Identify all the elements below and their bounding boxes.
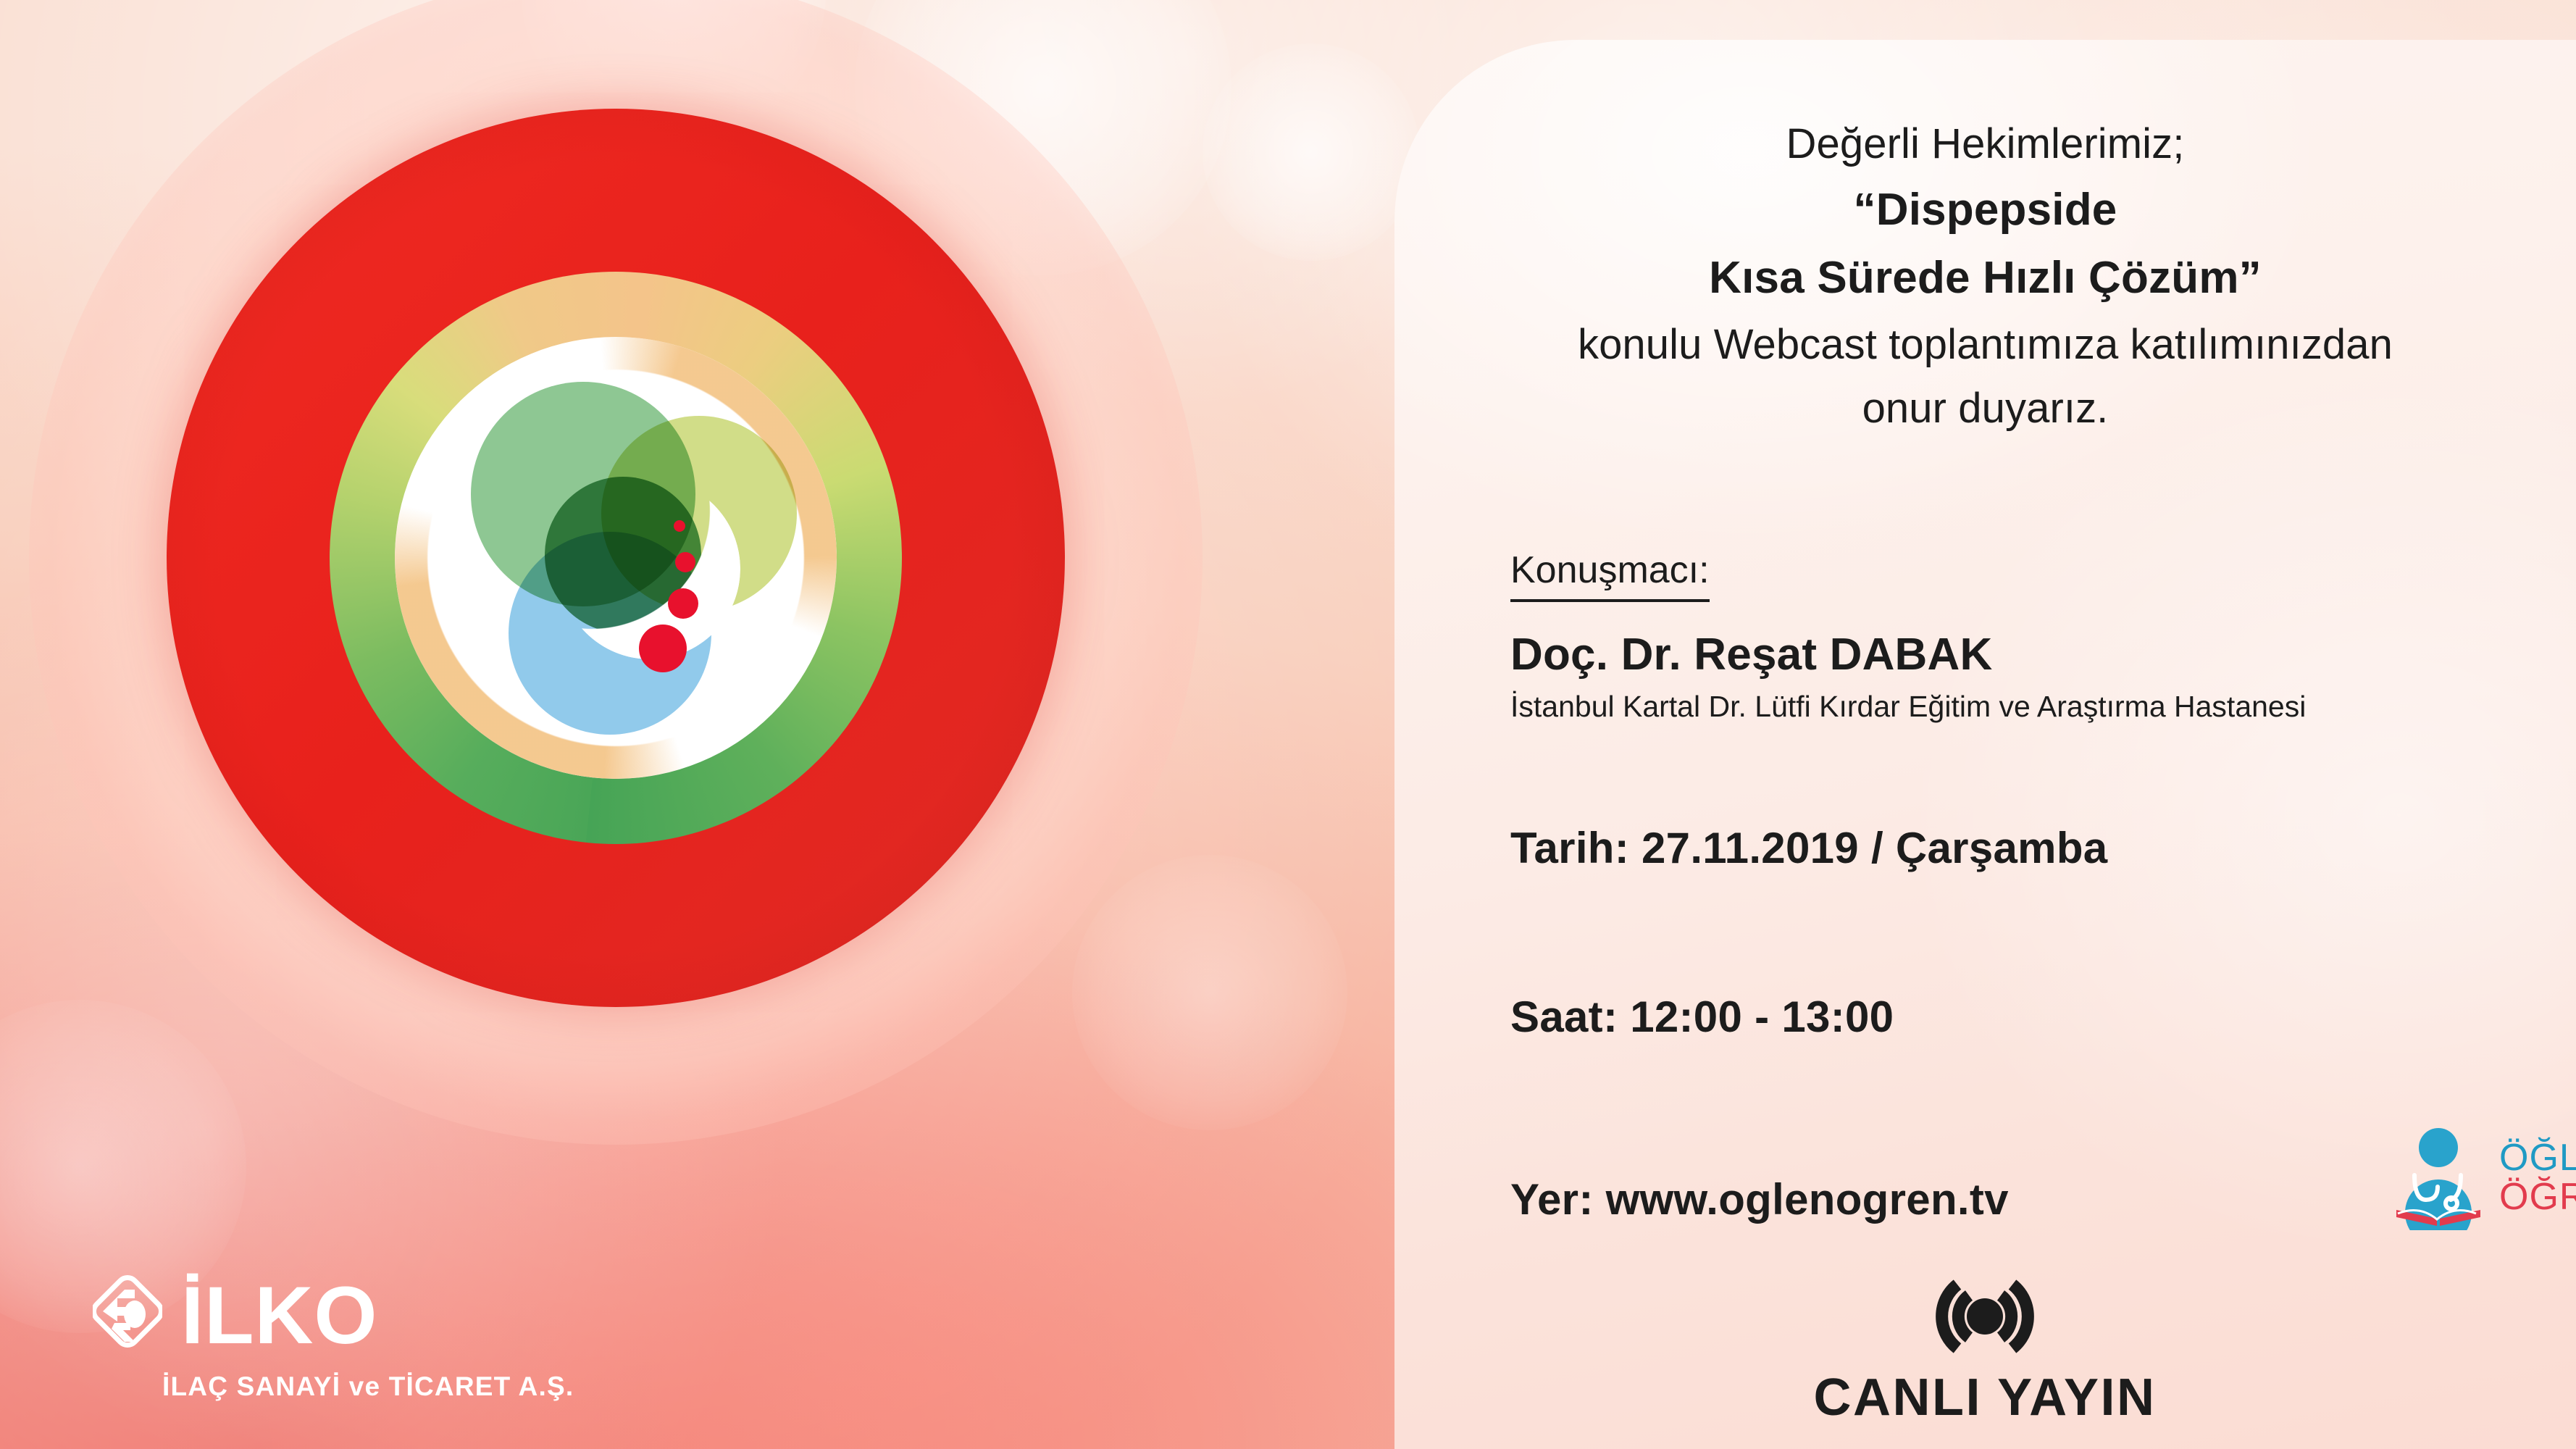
speaker-block: Konuşmacı: Doç. Dr. Reşat DABAK İstanbul…: [1510, 547, 2510, 724]
webcast-title-line1: “Dispepside: [1394, 176, 2576, 244]
ilko-wordmark: İLKO: [181, 1275, 378, 1356]
event-date: Tarih: 27.11.2019 / Çarşamba: [1510, 824, 2510, 872]
intro-body-line2: onur duyarız.: [1394, 377, 2576, 440]
doctor-reading-book-icon: [2391, 1122, 2486, 1234]
ilko-diamond-emblem-icon: [93, 1269, 162, 1366]
oglen-text: ÖĞLEN: [2499, 1138, 2576, 1177]
emblem-red-dot-xlarge: [639, 625, 687, 672]
ilko-logo: İLKO İLAÇ SANAYİ ve TİCARET A.Ş.: [93, 1269, 600, 1432]
poster-canvas: İLKO İLAÇ SANAYİ ve TİCARET A.Ş. Değerli…: [0, 0, 2576, 1449]
live-broadcast-label: CANLI YAYIN: [1717, 1368, 2253, 1427]
intro-block: Değerli Hekimlerimiz; “Dispepside Kısa S…: [1394, 112, 2576, 440]
emblem-red-dot-small: [674, 520, 685, 532]
event-place[interactable]: Yer: www.oglenogren.tv: [1510, 1175, 2510, 1224]
speaker-name: Doç. Dr. Reşat DABAK: [1510, 630, 2510, 680]
emblem-red-dot-large: [668, 588, 698, 619]
oglen-ogren-tv-logo[interactable]: ÖĞLEN ÖĞREN tv: [2391, 1098, 2576, 1257]
ogren-text: ÖĞREN: [2499, 1177, 2576, 1216]
oglen-ogren-wordmark: ÖĞLEN ÖĞREN: [2499, 1138, 2576, 1216]
concentric-circles-artwork: [29, 0, 1203, 1145]
emblem-red-dot-medium: [675, 552, 695, 572]
content-panel: Değerli Hekimlerimiz; “Dispepside Kısa S…: [1394, 40, 2576, 1449]
ilko-tagline: İLAÇ SANAYİ ve TİCARET A.Ş.: [162, 1373, 600, 1400]
intro-body-line1: konulu Webcast toplantımıza katılımınızd…: [1394, 313, 2576, 377]
webcast-title-line2: Kısa Sürede Hızlı Çözüm”: [1394, 244, 2576, 312]
event-time: Saat: 12:00 - 13:00: [1510, 993, 2510, 1041]
live-broadcast-block: CANLI YAYIN: [1717, 1271, 2253, 1427]
speaker-organization: İstanbul Kartal Dr. Lütfi Kırdar Eğitim …: [1510, 688, 2510, 724]
intro-greeting: Değerli Hekimlerimiz;: [1394, 112, 2576, 176]
speaker-label: Konuşmacı:: [1510, 547, 1710, 602]
broadcast-signal-icon: [1912, 1352, 2057, 1364]
